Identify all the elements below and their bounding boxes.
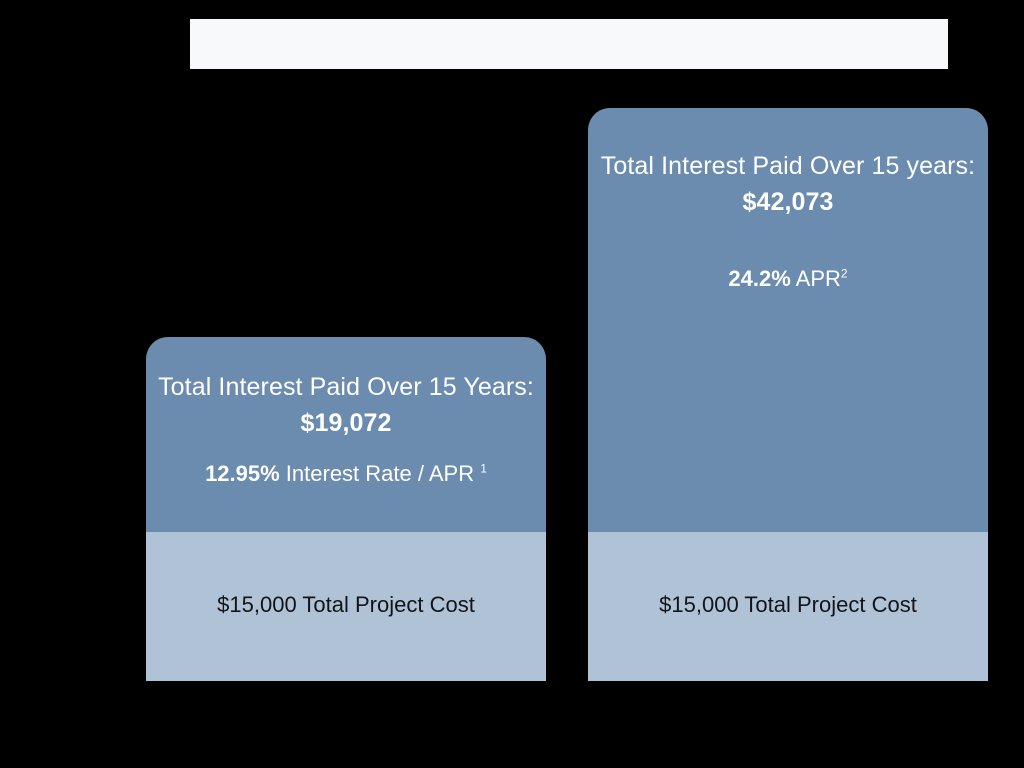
interest-headline-right: Total Interest Paid Over 15 years: $42,0… (588, 148, 988, 220)
bar-column-right: Total Interest Paid Over 15 years: $42,0… (588, 108, 988, 681)
bar-segment-principal-left: $15,000 Total Project Cost (146, 532, 546, 681)
bar-segment-principal-right: $15,000 Total Project Cost (588, 532, 988, 681)
interest-headline-prefix-right: Total Interest Paid Over 15 years: (601, 152, 975, 180)
principal-label-left: $15,000 Total Project Cost (146, 590, 546, 620)
bar-segment-interest-right: Total Interest Paid Over 15 years: $42,0… (588, 108, 988, 532)
interest-amount-left: $19,072 (300, 409, 391, 437)
interest-amount-right: $42,073 (742, 188, 833, 216)
bar-column-left: Total Interest Paid Over 15 Years: $19,0… (146, 337, 546, 681)
interest-rate-label-left: Interest Rate / APR (280, 461, 481, 486)
interest-rate-line-left: 12.95% Interest Rate / APR 1 (146, 459, 546, 489)
interest-rate-label-right: APR (791, 266, 841, 291)
interest-headline-left: Total Interest Paid Over 15 Years: $19,0… (146, 369, 546, 441)
interest-rate-value-right: 24.2% (728, 266, 790, 291)
interest-rate-line-right: 24.2% APR2 (588, 264, 988, 294)
top-banner (190, 19, 948, 69)
interest-headline-prefix-left: Total Interest Paid Over 15 Years: (158, 373, 534, 401)
footnote-marker-left: 1 (480, 462, 487, 476)
bar-segment-interest-left: Total Interest Paid Over 15 Years: $19,0… (146, 337, 546, 532)
interest-rate-value-left: 12.95% (205, 461, 280, 486)
principal-label-right: $15,000 Total Project Cost (588, 590, 988, 620)
footnote-marker-right: 2 (841, 267, 848, 281)
